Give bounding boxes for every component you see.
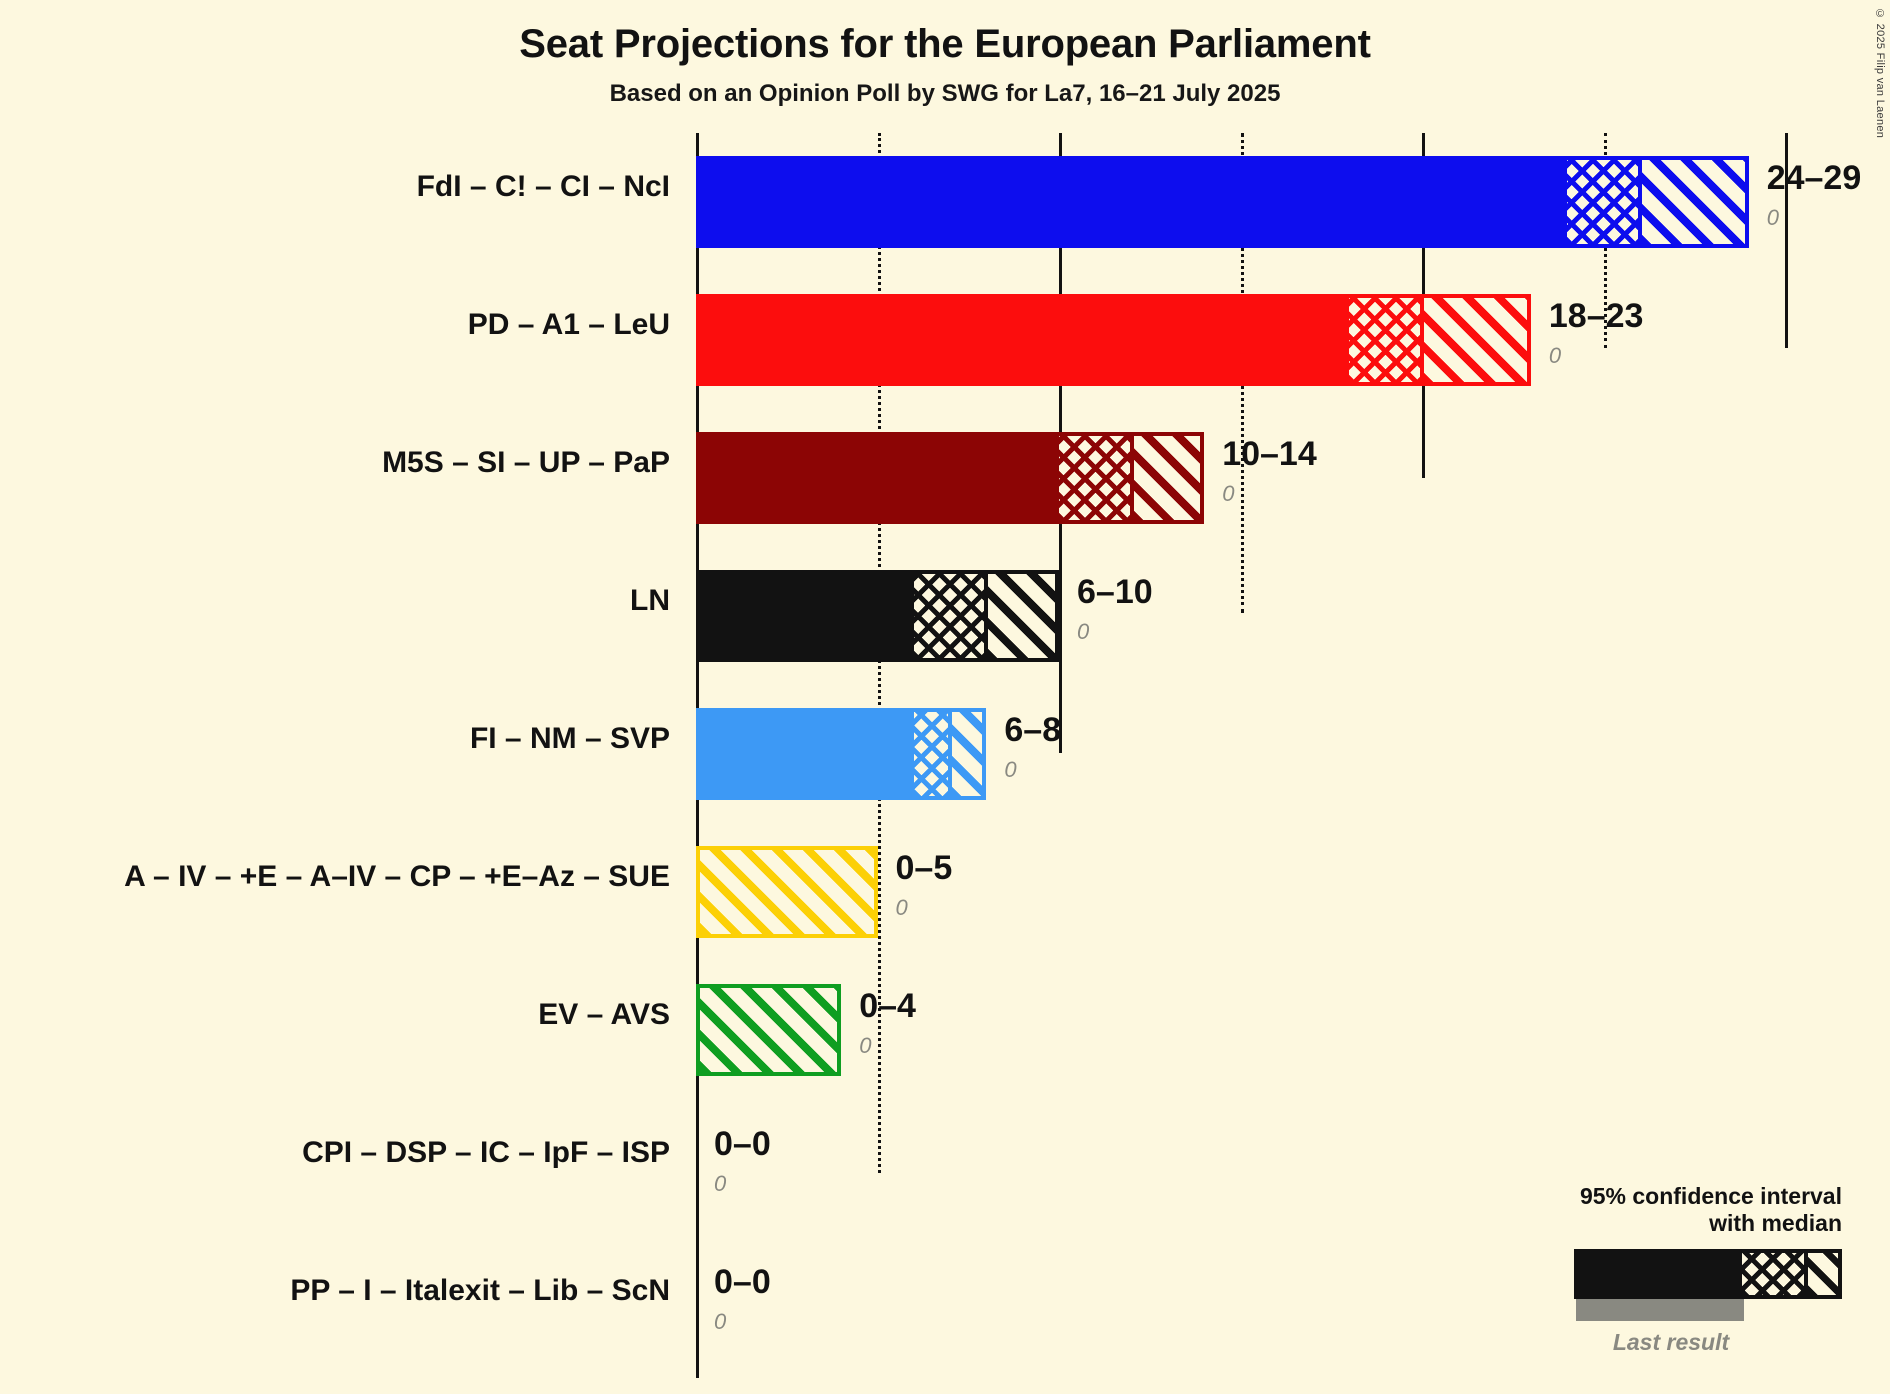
bar-row: FdI – C! – CI – NcI24–290 xyxy=(696,133,1886,271)
legend-line-2: with median xyxy=(1512,1210,1842,1237)
bar-row-label: PP – I – Italexit – Lib – ScN xyxy=(0,1274,670,1308)
bar-row: A – IV – +E – A–IV – CP – +E–Az – SUE0–5… xyxy=(696,823,1886,961)
bar-segment-divider xyxy=(984,570,988,662)
bar-last-result-label: 0 xyxy=(714,1171,726,1197)
bar-segment-upper-hatch xyxy=(1132,432,1205,524)
bar-row-label: CPI – DSP – IC – IpF – ISP xyxy=(0,1136,670,1170)
bar-row-label: FdI – C! – CI – NcI xyxy=(0,170,670,204)
bar-segment-upper-hatch xyxy=(696,984,841,1076)
legend-last-result-bar xyxy=(1576,1299,1744,1321)
bar-segment-solid xyxy=(696,570,914,662)
bar-last-result-label: 0 xyxy=(896,895,908,921)
bar-last-result-label: 0 xyxy=(714,1309,726,1335)
chart-root: Seat Projections for the European Parlia… xyxy=(0,0,1890,1394)
bar-segment-median-hatch xyxy=(914,708,950,800)
bar-row-label: M5S – SI – UP – PaP xyxy=(0,446,670,480)
legend-line-1: 95% confidence interval xyxy=(1512,1183,1842,1210)
bar-segment-upper-hatch xyxy=(950,708,986,800)
bar-last-result-label: 0 xyxy=(1549,343,1561,369)
bar-value-label: 24–29 xyxy=(1767,159,1862,198)
bar-value-label: 6–10 xyxy=(1077,573,1153,612)
bar-last-result-label: 0 xyxy=(1222,481,1234,507)
bar-row-label: A – IV – +E – A–IV – CP – +E–Az – SUE xyxy=(0,860,670,894)
bar-segment-solid xyxy=(696,294,1349,386)
bar-last-result-label: 0 xyxy=(859,1033,871,1059)
bar-segment-median-hatch xyxy=(1567,156,1640,248)
bar-row: LN6–100 xyxy=(696,547,1886,685)
legend-diagonal-segment xyxy=(1804,1249,1842,1299)
bar-segment-solid xyxy=(696,156,1567,248)
bar-last-result-label: 0 xyxy=(1077,619,1089,645)
legend-crosshatch-segment xyxy=(1742,1249,1804,1299)
bar-row: PD – A1 – LeU18–230 xyxy=(696,271,1886,409)
chart-subtitle: Based on an Opinion Poll by SWG for La7,… xyxy=(0,80,1890,108)
bar-value-label: 10–14 xyxy=(1222,435,1317,474)
bar-row-label: LN xyxy=(0,584,670,618)
bar-segment-divider xyxy=(1420,294,1424,386)
bar-last-result-label: 0 xyxy=(1004,757,1016,783)
bar-value-label: 0–4 xyxy=(859,987,916,1026)
copyright-notice: © 2025 Filip van Laenen xyxy=(1874,8,1886,138)
bar-last-result-label: 0 xyxy=(1767,205,1779,231)
bar-segment-median-hatch xyxy=(1349,294,1422,386)
legend-last-result-label: Last result xyxy=(1512,1329,1842,1356)
bar-row-label: FI – NM – SVP xyxy=(0,722,670,756)
bar-segment-upper-hatch xyxy=(696,846,878,938)
bar-row-label: EV – AVS xyxy=(0,998,670,1032)
bar-segment-upper-hatch xyxy=(986,570,1059,662)
bar-segment-median-hatch xyxy=(1059,432,1132,524)
bar-value-label: 0–0 xyxy=(714,1125,771,1164)
legend: 95% confidence interval with median Last… xyxy=(1512,1183,1842,1356)
bar-segment-upper-hatch xyxy=(1422,294,1531,386)
page-title: Seat Projections for the European Parlia… xyxy=(0,22,1890,67)
legend-swatch xyxy=(1574,1249,1842,1299)
bar-value-label: 0–0 xyxy=(714,1263,771,1302)
bar-segment-divider xyxy=(1638,156,1642,248)
bar-row: M5S – SI – UP – PaP10–140 xyxy=(696,409,1886,547)
legend-solid-segment xyxy=(1574,1249,1742,1299)
bar-value-label: 0–5 xyxy=(896,849,953,888)
bar-value-label: 18–23 xyxy=(1549,297,1644,336)
bar-row-label: PD – A1 – LeU xyxy=(0,308,670,342)
bar-segment-divider xyxy=(948,708,952,800)
bar-segment-upper-hatch xyxy=(1640,156,1749,248)
bar-row: FI – NM – SVP6–80 xyxy=(696,685,1886,823)
bar-row: EV – AVS0–40 xyxy=(696,961,1886,1099)
bar-segment-median-hatch xyxy=(914,570,987,662)
bar-segment-solid xyxy=(696,432,1059,524)
bar-segment-divider xyxy=(1130,432,1134,524)
bar-value-label: 6–8 xyxy=(1004,711,1061,750)
bar-segment-solid xyxy=(696,708,914,800)
